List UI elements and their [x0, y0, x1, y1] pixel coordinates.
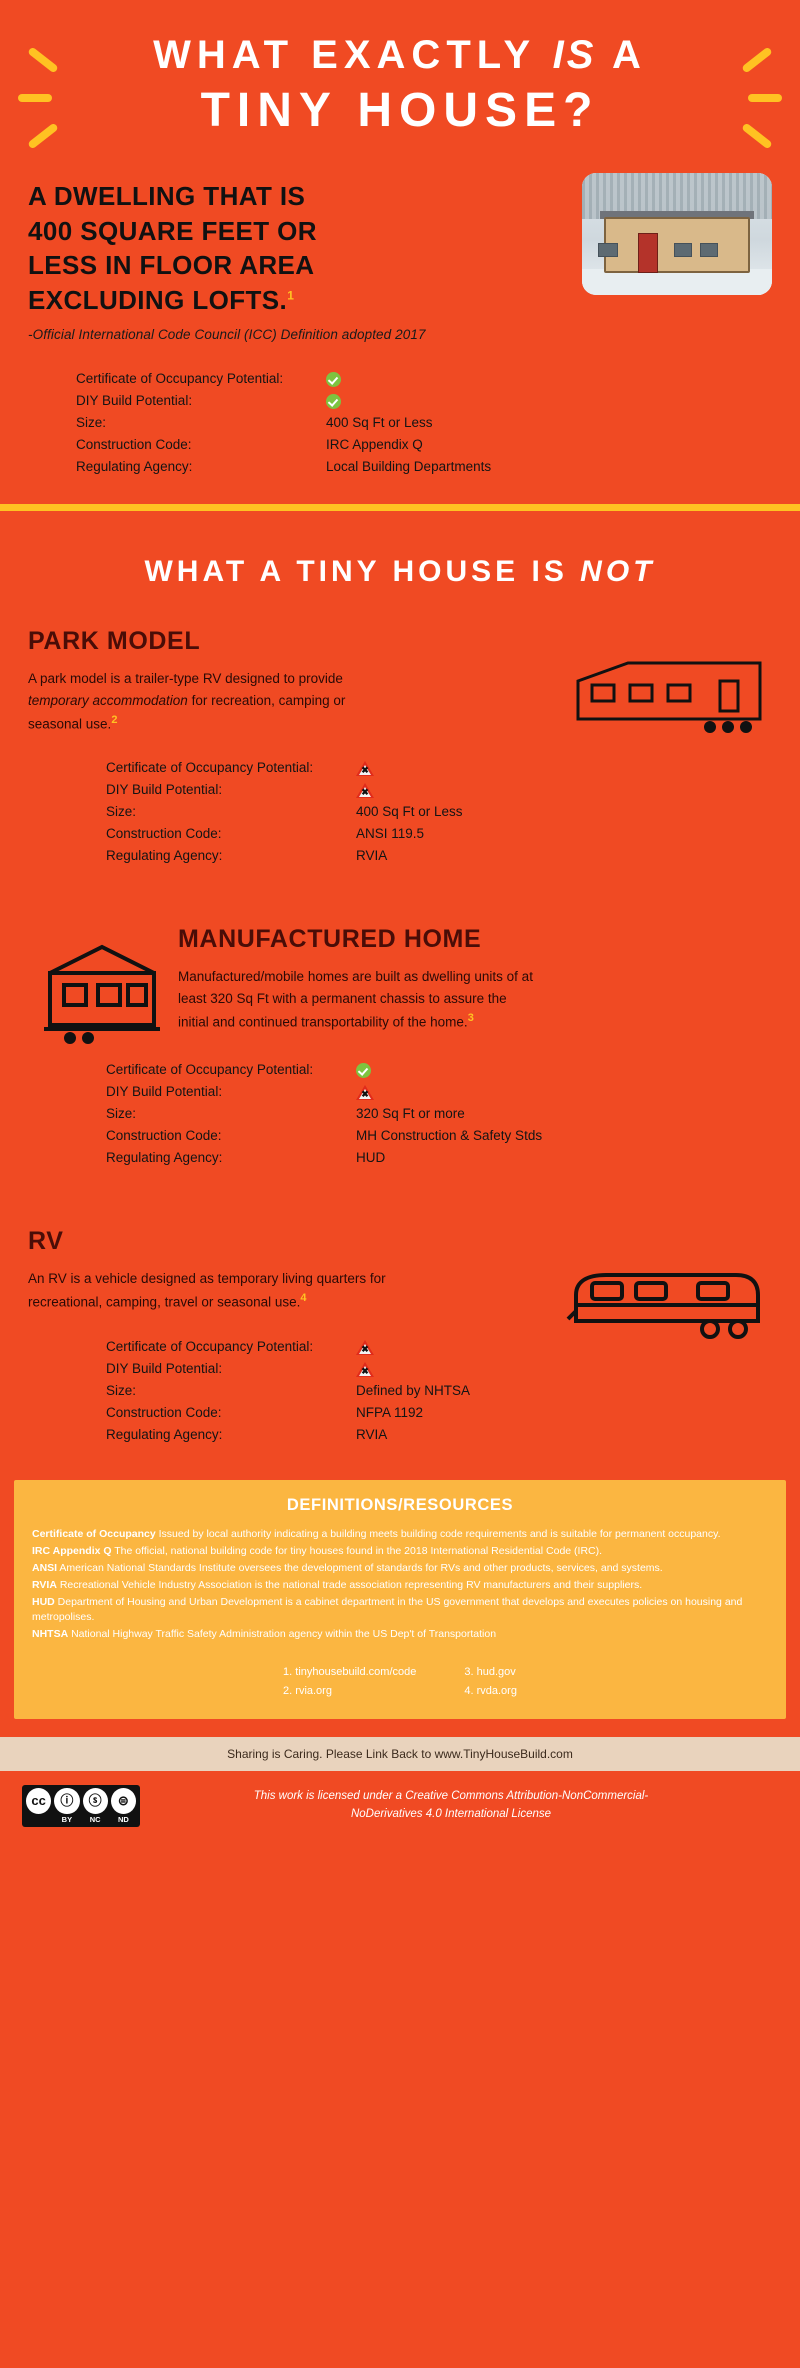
- spec-row-code: Construction Code: NFPA 1192: [106, 1402, 732, 1424]
- spec-value: [356, 1081, 732, 1103]
- park-model-description: A park model is a trailer-type RV design…: [28, 668, 348, 735]
- spec-label: Regulating Agency:: [106, 1424, 356, 1446]
- reference-item[interactable]: 1. tinyhousebuild.com/code: [283, 1663, 416, 1682]
- photo-window: [674, 243, 692, 257]
- definition-item: Certificate of Occupancy Issued by local…: [32, 1527, 768, 1543]
- definition-block: A DWELLING THAT IS 400 SQUARE FEET OR LE…: [0, 179, 800, 478]
- spec-row-code: Construction Code: IRC Appendix Q: [76, 434, 732, 456]
- spec-label: Construction Code:: [106, 1402, 356, 1424]
- references-column-left: 1. tinyhousebuild.com/code 2. rvia.org: [283, 1663, 416, 1700]
- hero-header: WHAT EXACTLY IS A TINY HOUSE?: [0, 0, 800, 137]
- hero-title-italic: IS: [553, 33, 597, 77]
- spec-row-diy: DIY Build Potential:: [106, 1358, 732, 1380]
- creative-commons-badge: cc ⓘ ⓢ ⊜ cc BY NC ND: [22, 1785, 140, 1827]
- cc-icon-row: cc ⓘ ⓢ ⊜: [26, 1788, 136, 1814]
- spec-value: RVIA: [356, 1424, 732, 1446]
- definition-text: Department of Housing and Urban Developm…: [32, 1596, 742, 1624]
- cc-label-nc: NC: [83, 1815, 108, 1824]
- spec-label: Regulating Agency:: [106, 845, 356, 867]
- spec-row-size: Size: 400 Sq Ft or Less: [106, 801, 732, 823]
- not-title-part-a: WHAT A TINY HOUSE IS: [144, 555, 580, 588]
- definition-headline: A DWELLING THAT IS 400 SQUARE FEET OR LE…: [28, 179, 338, 317]
- reference-item[interactable]: 2. rvia.org: [283, 1682, 416, 1701]
- warning-icon: [356, 761, 374, 776]
- manufactured-home-description: Manufactured/mobile homes are built as d…: [178, 966, 538, 1033]
- spec-value: [326, 368, 732, 390]
- photo-door: [638, 233, 658, 273]
- definition-text: National Highway Traffic Safety Administ…: [68, 1628, 496, 1640]
- spec-row-agency: Regulating Agency: HUD: [106, 1147, 732, 1169]
- spec-row-code: Construction Code: ANSI 119.5: [106, 823, 732, 845]
- definition-item: ANSI American National Standards Institu…: [32, 1561, 768, 1577]
- desc-text: An RV is a vehicle designed as temporary…: [28, 1271, 386, 1309]
- license-line-2: NoDerivatives 4.0 International License: [154, 1806, 748, 1824]
- definition-item: NHTSA National Highway Traffic Safety Ad…: [32, 1627, 768, 1643]
- warning-icon: [356, 783, 374, 798]
- definition-item: HUD Department of Housing and Urban Deve…: [32, 1595, 768, 1627]
- infographic-page: WHAT EXACTLY IS A TINY HOUSE? A DWELLING…: [0, 0, 800, 2368]
- share-bar: Sharing is Caring. Please Link Back to w…: [0, 1737, 800, 1771]
- footnote-marker: 1: [287, 288, 294, 302]
- spec-label: DIY Build Potential:: [106, 1358, 356, 1380]
- warning-icon: [356, 1362, 374, 1377]
- definition-text: American National Standards Institute ov…: [57, 1562, 663, 1574]
- footnote-marker: 4: [300, 1292, 306, 1304]
- spec-label: DIY Build Potential:: [106, 1081, 356, 1103]
- cc-nd-icon: ⊜: [111, 1788, 136, 1814]
- park-model-title: PARK MODEL: [28, 627, 772, 656]
- rv-block: RV An RV is a vehicle designed as tempor…: [0, 1227, 800, 1445]
- spec-value: HUD: [356, 1147, 732, 1169]
- desc-emphasis: temporary accommodation: [28, 693, 188, 708]
- spec-value: [326, 390, 732, 412]
- spec-label: Construction Code:: [76, 434, 326, 456]
- footnote-marker: 3: [468, 1012, 474, 1024]
- not-title-italic: NOT: [580, 555, 655, 588]
- tiny-house-spec-table: Certificate of Occupancy Potential: DIY …: [28, 368, 772, 478]
- spec-value: NFPA 1192: [356, 1402, 732, 1424]
- definition-headline-text: A DWELLING THAT IS 400 SQUARE FEET OR LE…: [28, 181, 317, 315]
- spec-label: Certificate of Occupancy Potential:: [106, 757, 356, 779]
- spec-value: IRC Appendix Q: [326, 434, 732, 456]
- spec-row-agency: Regulating Agency: Local Building Depart…: [76, 456, 732, 478]
- spec-value: [356, 1358, 732, 1380]
- spec-value: Local Building Departments: [326, 456, 732, 478]
- definition-term: Certificate of Occupancy: [32, 1528, 156, 1540]
- not-section-title: WHAT A TINY HOUSE IS NOT: [0, 511, 800, 599]
- manufactured-home-spec-table: Certificate of Occupancy Potential: DIY …: [28, 1059, 772, 1169]
- spec-label: Size:: [76, 412, 326, 434]
- park-model-illustration: [570, 653, 770, 743]
- spec-row-agency: Regulating Agency: RVIA: [106, 1424, 732, 1446]
- definition-text: Recreational Vehicle Industry Associatio…: [57, 1579, 642, 1591]
- photo-window: [700, 243, 718, 257]
- definition-text: The official, national building code for…: [112, 1545, 603, 1557]
- definition-text: Issued by local authority indicating a b…: [156, 1528, 721, 1540]
- hero-title-part-a: WHAT EXACTLY: [153, 33, 553, 77]
- spec-row-diy: DIY Build Potential:: [76, 390, 732, 412]
- license-section: cc ⓘ ⓢ ⊜ cc BY NC ND This work is licens…: [0, 1771, 800, 1849]
- hero-title-line2: TINY HOUSE?: [0, 85, 800, 137]
- warning-icon: [356, 1340, 374, 1355]
- cc-label-row: cc BY NC ND: [26, 1815, 136, 1824]
- cc-nc-icon: ⓢ: [83, 1788, 108, 1814]
- manufactured-home-title: MANUFACTURED HOME: [178, 925, 772, 954]
- footnote-marker: 2: [111, 714, 117, 726]
- spec-value: [356, 757, 732, 779]
- rv-spec-table: Certificate of Occupancy Potential: DIY …: [28, 1336, 772, 1446]
- spec-label: Size:: [106, 801, 356, 823]
- spec-label: DIY Build Potential:: [76, 390, 326, 412]
- photo-window: [598, 243, 618, 257]
- manufactured-home-block: MANUFACTURED HOME Manufactured/mobile ho…: [0, 925, 800, 1169]
- spec-row-coo: Certificate of Occupancy Potential:: [76, 368, 732, 390]
- spec-value: 400 Sq Ft or Less: [326, 412, 732, 434]
- license-line-1: This work is licensed under a Creative C…: [154, 1788, 748, 1806]
- definition-item: RVIA Recreational Vehicle Industry Assoc…: [32, 1578, 768, 1594]
- spec-label: Size:: [106, 1103, 356, 1125]
- spec-value: 320 Sq Ft or more: [356, 1103, 732, 1125]
- definition-term: IRC Appendix Q: [32, 1545, 112, 1557]
- check-icon: [326, 394, 341, 409]
- spec-value: Defined by NHTSA: [356, 1380, 732, 1402]
- spec-value: MH Construction & Safety Stds: [356, 1125, 732, 1147]
- spec-row-coo: Certificate of Occupancy Potential:: [106, 757, 732, 779]
- spec-row-agency: Regulating Agency: RVIA: [106, 845, 732, 867]
- spec-value: [356, 1059, 732, 1081]
- references-column-right: 3. hud.gov 4. rvda.org: [464, 1663, 517, 1700]
- spark-icon: [748, 94, 782, 102]
- definition-term: NHTSA: [32, 1628, 68, 1640]
- spec-row-coo: Certificate of Occupancy Potential:: [106, 1059, 732, 1081]
- spec-row-code: Construction Code: MH Construction & Saf…: [106, 1125, 732, 1147]
- spec-label: Certificate of Occupancy Potential:: [106, 1336, 356, 1358]
- hero-title-line1: WHAT EXACTLY IS A: [0, 34, 800, 77]
- desc-text: Manufactured/mobile homes are built as d…: [178, 969, 533, 1029]
- spec-row-size: Size: Defined by NHTSA: [106, 1380, 732, 1402]
- spec-value: [356, 779, 732, 801]
- spec-label: Regulating Agency:: [106, 1147, 356, 1169]
- spec-label: Size:: [106, 1380, 356, 1402]
- rv-title: RV: [28, 1227, 772, 1256]
- spec-row-size: Size: 320 Sq Ft or more: [106, 1103, 732, 1125]
- cc-logo-icon: cc: [26, 1788, 51, 1814]
- spec-row-diy: DIY Build Potential:: [106, 779, 732, 801]
- warning-icon: [356, 1085, 374, 1100]
- check-icon: [326, 372, 341, 387]
- spec-label: DIY Build Potential:: [106, 779, 356, 801]
- references-list: 1. tinyhousebuild.com/code 2. rvia.org 3…: [32, 1663, 768, 1700]
- license-text: This work is licensed under a Creative C…: [154, 1788, 778, 1824]
- spec-label: Construction Code:: [106, 823, 356, 845]
- spec-label: Certificate of Occupancy Potential:: [106, 1059, 356, 1081]
- reference-item[interactable]: 4. rvda.org: [464, 1682, 517, 1701]
- definition-term: RVIA: [32, 1579, 57, 1591]
- spec-row-size: Size: 400 Sq Ft or Less: [76, 412, 732, 434]
- park-model-block: PARK MODEL A park model is a trailer-typ…: [0, 627, 800, 867]
- hero-title-part-c: A: [596, 33, 647, 77]
- spec-value: 400 Sq Ft or Less: [356, 801, 732, 823]
- section-divider: [0, 504, 800, 511]
- spec-label: Construction Code:: [106, 1125, 356, 1147]
- spec-label: Certificate of Occupancy Potential:: [76, 368, 326, 390]
- spec-value: RVIA: [356, 845, 732, 867]
- definition-term: HUD: [32, 1596, 55, 1608]
- manufactured-home-illustration: [36, 939, 166, 1049]
- desc-part-1: A park model is a trailer-type RV design…: [28, 671, 343, 686]
- spec-row-diy: DIY Build Potential:: [106, 1081, 732, 1103]
- definitions-title: DEFINITIONS/RESOURCES: [32, 1496, 768, 1515]
- definition-item: IRC Appendix Q The official, national bu…: [32, 1544, 768, 1560]
- spec-value: ANSI 119.5: [356, 823, 732, 845]
- check-icon: [356, 1063, 371, 1078]
- definition-citation: -Official International Code Council (IC…: [28, 327, 772, 342]
- tiny-house-photo: [582, 173, 772, 295]
- cc-by-icon: ⓘ: [54, 1788, 79, 1814]
- cc-label-nd: ND: [111, 1815, 136, 1824]
- rv-description: An RV is a vehicle designed as temporary…: [28, 1268, 388, 1313]
- definition-term: ANSI: [32, 1562, 57, 1574]
- park-model-spec-table: Certificate of Occupancy Potential: DIY …: [28, 757, 772, 867]
- reference-item[interactable]: 3. hud.gov: [464, 1663, 517, 1682]
- spec-label: Regulating Agency:: [76, 456, 326, 478]
- spark-icon: [18, 94, 52, 102]
- definitions-panel: DEFINITIONS/RESOURCES Certificate of Occ…: [14, 1480, 786, 1719]
- cc-label-by: BY: [54, 1815, 79, 1824]
- rv-illustration: [566, 1261, 766, 1347]
- cc-label: cc: [26, 1815, 51, 1824]
